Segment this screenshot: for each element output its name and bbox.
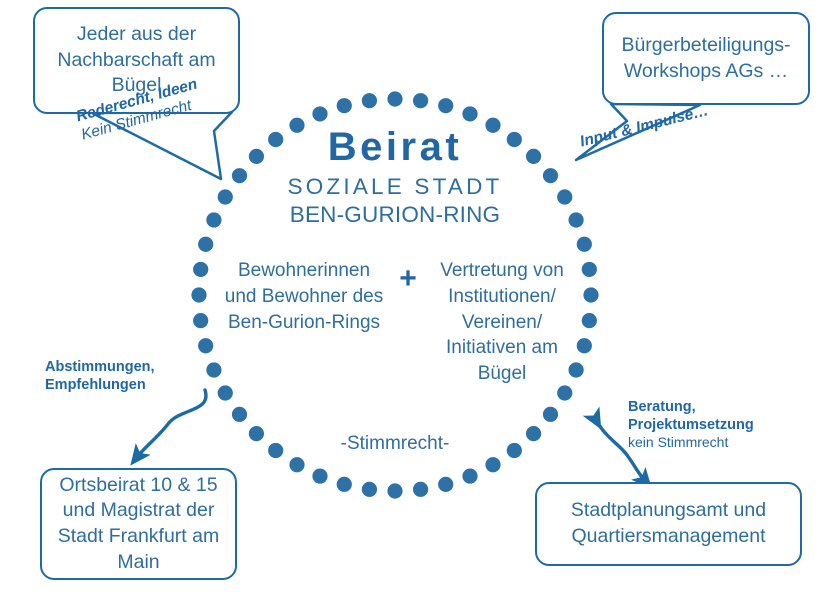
- member-group-residents: Bewohnerinnen und Bewohner des Ben-Gurio…: [220, 258, 388, 335]
- center-subtitle-2: BEN-GURION-RING: [245, 202, 545, 228]
- member-group-institutions: Vertretung von Institutionen/ Vereinen/ …: [428, 258, 576, 387]
- label-abstimmungen-line2: Empfehlungen: [45, 376, 155, 394]
- arrow-abstimmungen: [137, 390, 206, 457]
- bubble-participation[interactable]: Bürgerbeteiligungs- Workshops AGs …: [602, 12, 810, 105]
- bubble-neighbourhood-text: Jeder aus der Nachbarschaft am Bügel: [35, 22, 238, 99]
- plus-icon: +: [388, 258, 428, 294]
- bubble-stadtplanung-text: Stadtplanungsamt und Quartiersmanagement: [537, 498, 800, 549]
- bubble-participation-text: Bürgerbeteiligungs- Workshops AGs …: [604, 33, 808, 84]
- bubble-stadtplanung[interactable]: Stadtplanungsamt und Quartiersmanagement: [535, 482, 802, 566]
- label-beratung-line3: kein Stimmrecht: [628, 434, 754, 452]
- center-title-block: Beirat SOZIALE STADT BEN-GURION-RING: [245, 126, 545, 228]
- label-abstimmungen-line1: Abstimmungen,: [45, 358, 155, 376]
- label-beratung-line2: Projektumsetzung: [628, 416, 754, 434]
- label-beratung: Beratung, Projektumsetzung kein Stimmrec…: [628, 398, 754, 452]
- page-title: Beirat: [245, 126, 545, 168]
- bubble-ortsbeirat-text: Ortsbeirat 10 & 15 und Magistrat der Sta…: [42, 473, 235, 576]
- diagram-canvas: Jeder aus der Nachbarschaft am Bügel Bür…: [0, 0, 820, 600]
- label-beratung-line1: Beratung,: [628, 398, 754, 416]
- center-subtitle-1: SOZIALE STADT: [245, 174, 545, 200]
- label-abstimmungen: Abstimmungen, Empfehlungen: [45, 358, 155, 394]
- voting-right-note: -Stimmrecht-: [295, 433, 495, 455]
- center-membership-row: Bewohnerinnen und Bewohner des Ben-Gurio…: [208, 258, 588, 387]
- bubble-ortsbeirat[interactable]: Ortsbeirat 10 & 15 und Magistrat der Sta…: [40, 468, 237, 580]
